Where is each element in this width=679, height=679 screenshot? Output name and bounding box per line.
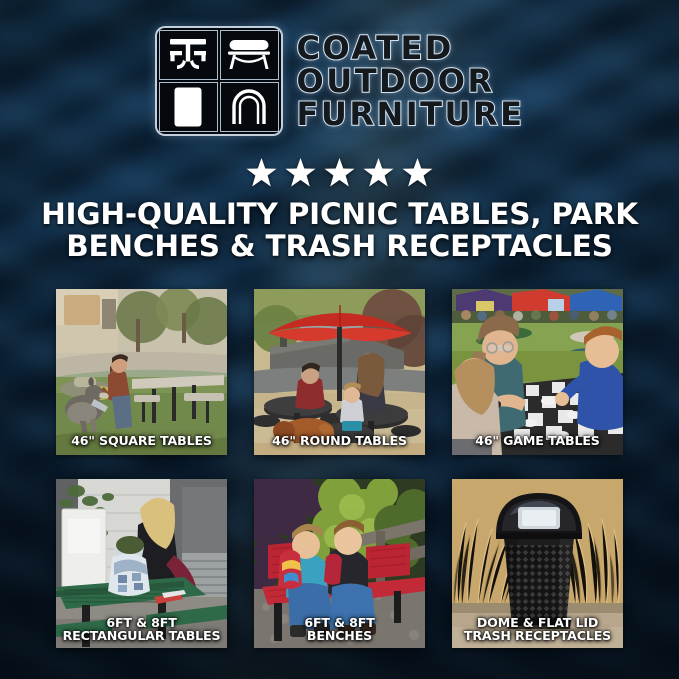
- product-tile-game-tables[interactable]: 46" GAME TABLES: [452, 289, 623, 455]
- product-photo-round-tables: [254, 289, 425, 455]
- bench-icon: [220, 30, 279, 80]
- page-title: HIGH-QUALITY PICNIC TABLES, PARK BENCHES…: [34, 198, 645, 263]
- star-icon: [324, 157, 355, 187]
- wordmark-line-1: COATED: [297, 33, 525, 65]
- brand-logo: COATED OUTDOOR FURNITURE: [0, 26, 679, 136]
- product-tile-caption: DOME & FLAT LID TRASH RECEPTACLES: [455, 616, 620, 643]
- product-tile-caption: 6FT & 8FT RECTANGULAR TABLES: [59, 616, 224, 643]
- star-icon: [285, 157, 316, 187]
- headline-line-2: BENCHES & TRASH RECEPTACLES: [34, 230, 645, 262]
- product-tile-benches[interactable]: 6FT & 8FT BENCHES: [254, 479, 425, 648]
- star-rating: [0, 157, 679, 187]
- wordmark-line-2: OUTDOOR: [297, 66, 525, 98]
- product-photo-game-tables: [452, 289, 623, 455]
- product-tile-caption: 46" ROUND TABLES: [257, 434, 422, 448]
- product-photo-square-tables: [56, 289, 227, 455]
- product-tile-trash-receptacles[interactable]: DOME & FLAT LID TRASH RECEPTACLES: [452, 479, 623, 648]
- product-category-grid: 46" SQUARE TABLES: [56, 289, 623, 648]
- picnic-table-icon: [159, 30, 218, 80]
- star-icon: [246, 157, 277, 187]
- bike-rack-icon: [220, 82, 279, 132]
- product-tile-round-tables[interactable]: 46" ROUND TABLES: [254, 289, 425, 455]
- star-icon: [402, 157, 433, 187]
- star-icon: [363, 157, 394, 187]
- product-tile-caption: 6FT & 8FT BENCHES: [257, 616, 422, 643]
- logo-icon-grid: [155, 26, 283, 136]
- product-tile-rectangular-tables[interactable]: 6FT & 8FT RECTANGULAR TABLES: [56, 479, 227, 648]
- wordmark-line-3: FURNITURE: [297, 99, 525, 131]
- product-tile-square-tables[interactable]: 46" SQUARE TABLES: [56, 289, 227, 455]
- trash-receptacle-icon: [159, 82, 218, 132]
- product-tile-caption: 46" SQUARE TABLES: [59, 434, 224, 448]
- product-tile-caption: 46" GAME TABLES: [455, 434, 620, 448]
- brand-wordmark: COATED OUTDOOR FURNITURE: [297, 31, 525, 130]
- promotional-banner: COATED OUTDOOR FURNITURE HIGH-QUALITY PI…: [0, 0, 679, 679]
- headline-line-1: HIGH-QUALITY PICNIC TABLES, PARK: [34, 198, 645, 230]
